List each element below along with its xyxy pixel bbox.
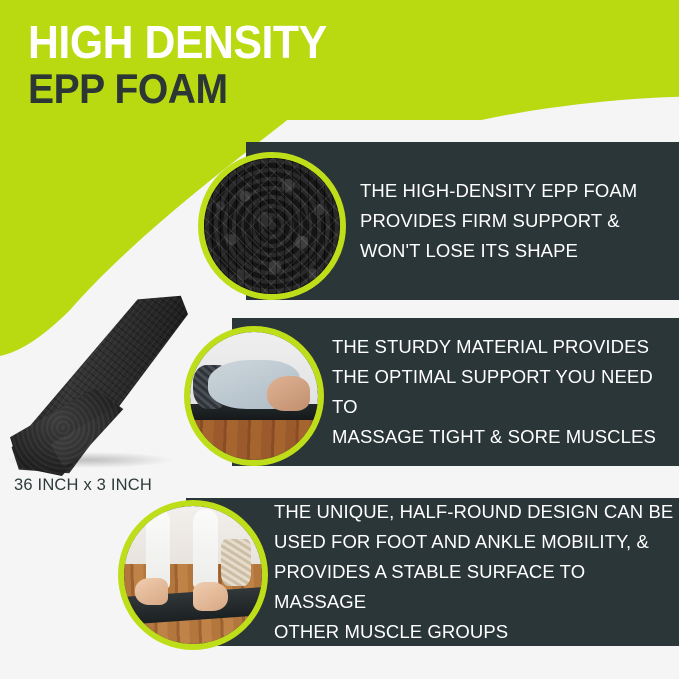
- photo-right-leg: [193, 509, 218, 589]
- feature-text-sturdy-support: THE STURDY MATERIAL PROVIDES THE OPTIMAL…: [332, 332, 679, 452]
- photo-left-leg: [146, 509, 169, 589]
- feet-on-roller-photo: [124, 506, 262, 644]
- feature-badge-foam-texture: [198, 152, 346, 300]
- photo-right-foot: [193, 582, 228, 611]
- product-infographic: HIGH DENSITY EPP FOAM 36 INCH x 3 INCH T…: [0, 0, 679, 679]
- photo-basket: [221, 539, 251, 586]
- product-dimensions-label: 36 INCH x 3 INCH: [14, 476, 152, 495]
- feature-text-foam-density: THE HIGH-DENSITY EPP FOAM PROVIDES FIRM …: [360, 176, 637, 266]
- feature-badge-feet-on-roller: [118, 500, 268, 650]
- foam-texture-photo: [204, 158, 340, 294]
- photo-wood-floor: [190, 420, 318, 460]
- foam-cell-texture-icon: [204, 158, 340, 294]
- feature-badge-person-on-roller: [184, 326, 324, 466]
- feature-text-half-round-design: THE UNIQUE, HALF-ROUND DESIGN CAN BE USE…: [274, 497, 679, 647]
- photo-left-foot: [135, 578, 168, 606]
- page-title-secondary: EPP FOAM: [28, 66, 327, 112]
- photo-person-arm: [267, 376, 311, 412]
- person-lying-photo: [190, 332, 318, 460]
- product-hero-image: [8, 292, 188, 477]
- page-title-primary: HIGH DENSITY: [28, 20, 327, 64]
- header-title-group: HIGH DENSITY EPP FOAM: [28, 20, 349, 112]
